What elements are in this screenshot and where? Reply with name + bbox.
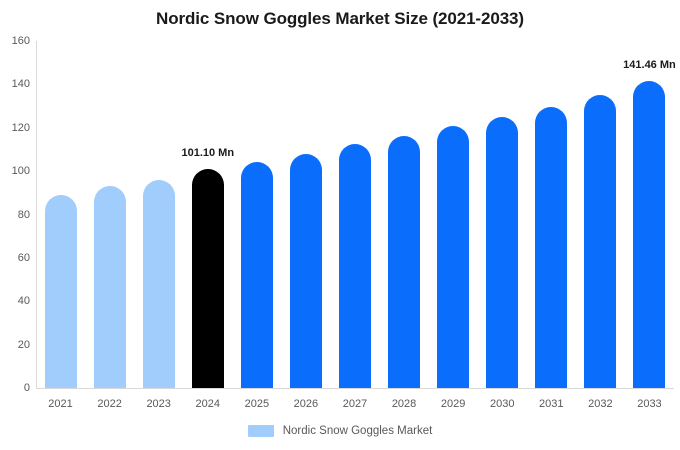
bar-2025[interactable] (241, 162, 273, 388)
bar-slot (332, 41, 378, 388)
y-axis-tick-label: 120 (0, 122, 30, 134)
bar-slot (136, 41, 182, 388)
bar-2024[interactable] (192, 169, 224, 388)
bar-slot (234, 41, 280, 388)
bar-2023[interactable] (143, 180, 175, 388)
bar-value-label: 101.10 Mn (181, 147, 234, 159)
y-axis-tick-label: 100 (0, 165, 30, 177)
bar-value-label: 141.46 Mn (623, 59, 676, 71)
bar-slot (38, 41, 84, 388)
bar-2031[interactable] (535, 107, 567, 389)
y-axis-tick-label: 20 (0, 339, 30, 351)
chart-container: Nordic Snow Goggles Market Size (2021-20… (0, 0, 680, 450)
y-axis-tick-label: 140 (0, 78, 30, 90)
bar-slot (577, 41, 623, 388)
bar-2032[interactable] (584, 95, 616, 388)
bar-2021[interactable] (45, 195, 77, 388)
bar-slot (185, 41, 231, 388)
bar-slot (87, 41, 133, 388)
y-axis-tick-label: 160 (0, 35, 30, 47)
bar-slot (479, 41, 525, 388)
bar-slot (528, 41, 574, 388)
bar-slot (430, 41, 476, 388)
y-axis-tick-label: 80 (0, 209, 30, 221)
x-axis-tick-label: 2033 (619, 398, 679, 410)
bar-2029[interactable] (437, 126, 469, 388)
bar-2033[interactable] (633, 81, 665, 388)
bar-2027[interactable] (339, 144, 371, 388)
bar-2026[interactable] (290, 154, 322, 388)
plot-area: 020406080100120140160 202120222023202420… (0, 0, 680, 450)
bar-slot (381, 41, 427, 388)
x-axis-line (36, 388, 674, 389)
y-axis-tick-label: 60 (0, 252, 30, 264)
y-axis-tick-label: 0 (0, 382, 30, 394)
chart-legend: Nordic Snow Goggles Market (0, 425, 680, 437)
bar-2028[interactable] (388, 136, 420, 388)
bar-2030[interactable] (486, 117, 518, 388)
bar-slot (283, 41, 329, 388)
bar-2022[interactable] (94, 186, 126, 388)
y-axis-tick-label: 40 (0, 295, 30, 307)
legend-label: Nordic Snow Goggles Market (283, 425, 433, 437)
legend-swatch-icon (248, 425, 274, 437)
bar-slot (626, 41, 672, 388)
bar-series (36, 41, 674, 388)
